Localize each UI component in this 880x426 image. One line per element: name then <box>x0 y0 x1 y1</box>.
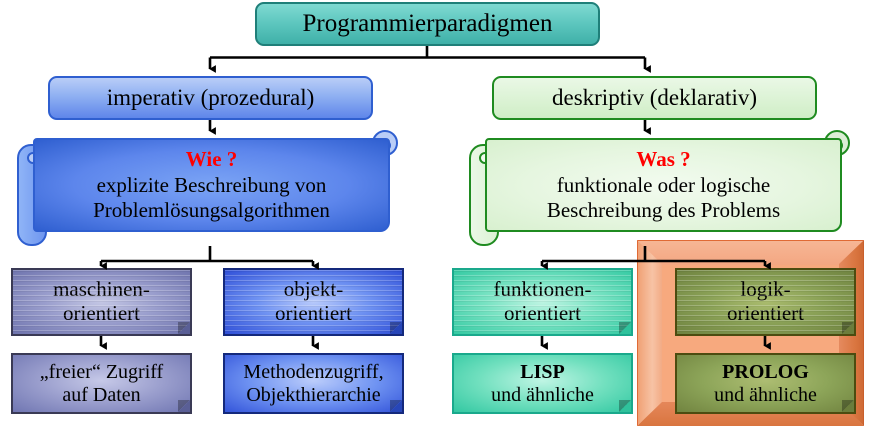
node-funktionen-line2: orientiert <box>504 302 581 326</box>
scroll-wie-line2: Problemlösungsalgorithmen <box>93 198 330 223</box>
node-funktionen-line1: funktionen- <box>494 278 592 302</box>
node-objekt-line2: orientiert <box>275 302 352 326</box>
node-maschinen-line2: orientiert <box>63 302 140 326</box>
scroll-wie-question: Wie ? <box>186 147 238 172</box>
node-methoden-line2: Objekthierarchie <box>246 384 380 407</box>
node-freier-zugriff[interactable]: „freier“ Zugriff auf Daten <box>11 353 192 414</box>
node-imperativ[interactable]: imperativ (prozedural) <box>48 76 373 120</box>
diagram-canvas: Programmierparadigmen imperativ (prozedu… <box>0 0 880 426</box>
node-prolog-title: PROLOG <box>722 361 809 384</box>
corner-fold-shade-icon <box>178 322 190 334</box>
node-logik-orientiert[interactable]: logik- orientiert <box>675 268 856 336</box>
node-prolog-subtitle: und ähnliche <box>714 384 817 407</box>
node-lisp-subtitle: und ähnliche <box>491 384 594 407</box>
node-maschinen-orientiert[interactable]: maschinen- orientiert <box>11 268 192 336</box>
scroll-was-line1: funktionale oder logische <box>557 173 770 198</box>
node-freier-line1: „freier“ Zugriff <box>40 361 163 384</box>
node-funktionen-orientiert[interactable]: funktionen- orientiert <box>452 268 633 336</box>
node-lisp-title: LISP <box>520 361 564 384</box>
root-node-label: Programmierparadigmen <box>303 10 553 38</box>
corner-fold-shade-icon <box>390 322 402 334</box>
node-objekt-line1: objekt- <box>284 278 343 302</box>
node-methoden-line1: Methodenzugriff, <box>243 361 383 384</box>
node-logik-line1: logik- <box>740 278 790 302</box>
node-maschinen-line1: maschinen- <box>53 278 150 302</box>
frame-bevel-left <box>637 240 662 426</box>
node-freier-line2: auf Daten <box>62 384 140 407</box>
corner-fold-shade-icon <box>390 400 402 412</box>
corner-fold-shade-icon <box>842 322 854 334</box>
scroll-was-body: Was ? funktionale oder logische Beschrei… <box>485 138 842 232</box>
scroll-wie[interactable]: Wie ? explizite Beschreibung von Problem… <box>11 138 404 246</box>
node-imperativ-label: imperativ (prozedural) <box>107 85 315 111</box>
scroll-was-question: Was ? <box>636 147 690 172</box>
scroll-was-line2: Beschreibung des Problems <box>547 198 780 223</box>
node-objekt-orientiert[interactable]: objekt- orientiert <box>223 268 404 336</box>
node-deskriptiv-label: deskriptiv (deklarativ) <box>552 85 757 111</box>
node-lisp[interactable]: LISP und ähnliche <box>452 353 633 414</box>
node-methodenzugriff[interactable]: Methodenzugriff, Objekthierarchie <box>223 353 404 414</box>
node-prolog[interactable]: PROLOG und ähnliche <box>675 353 856 414</box>
scroll-wie-line1: explizite Beschreibung von <box>97 173 327 198</box>
node-logik-line2: orientiert <box>727 302 804 326</box>
node-deskriptiv[interactable]: deskriptiv (deklarativ) <box>492 76 817 120</box>
scroll-was[interactable]: Was ? funktionale oder logische Beschrei… <box>463 138 856 246</box>
root-node-programmierparadigmen[interactable]: Programmierparadigmen <box>255 2 600 46</box>
corner-fold-shade-icon <box>619 400 631 412</box>
corner-fold-shade-icon <box>178 400 190 412</box>
corner-fold-shade-icon <box>842 400 854 412</box>
corner-fold-shade-icon <box>619 322 631 334</box>
scroll-wie-body: Wie ? explizite Beschreibung von Problem… <box>33 138 390 232</box>
